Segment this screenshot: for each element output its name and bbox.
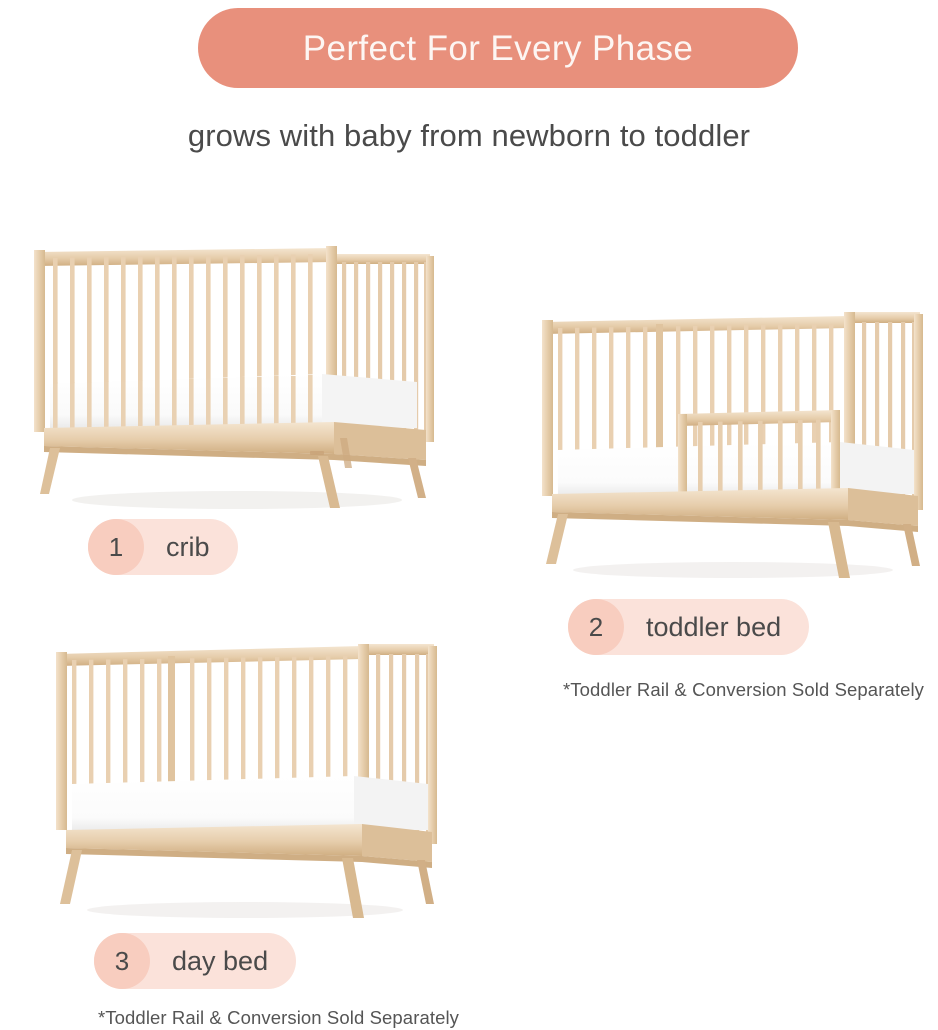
stage-badge-toddler-bed: 2 toddler bed bbox=[568, 599, 809, 655]
daybed-leg-front-left bbox=[60, 850, 82, 904]
stage-label-crib: crib bbox=[144, 534, 238, 561]
daybed-post-left bbox=[56, 652, 67, 830]
footnote-day-bed: *Toddler Rail & Conversion Sold Separate… bbox=[98, 1007, 459, 1029]
stage-number-toddler-bed: 2 bbox=[568, 599, 624, 655]
toddler-leg-front-left bbox=[546, 514, 568, 564]
crib-illustration bbox=[22, 232, 442, 522]
toddler-bed-illustration bbox=[528, 298, 932, 588]
crib-brand-plate bbox=[310, 451, 324, 455]
stage-badge-day-bed: 3 day bed bbox=[94, 933, 296, 989]
product-image-crib bbox=[22, 232, 442, 522]
product-image-day-bed bbox=[40, 628, 444, 928]
stage-number-day-bed: 3 bbox=[94, 933, 150, 989]
page-subtitle: grows with baby from newborn to toddler bbox=[0, 118, 938, 154]
stage-number-crib: 1 bbox=[88, 519, 144, 575]
title-banner: Perfect For Every Phase bbox=[198, 8, 798, 88]
crib-leg-front-left bbox=[40, 448, 60, 494]
product-infographic: Perfect For Every Phase grows with baby … bbox=[0, 0, 938, 1030]
crib-post-left bbox=[34, 250, 45, 432]
product-image-toddler-bed bbox=[528, 298, 932, 588]
day-bed-illustration bbox=[40, 628, 444, 928]
stage-badge-crib: 1 crib bbox=[88, 519, 238, 575]
footnote-toddler-bed: *Toddler Rail & Conversion Sold Separate… bbox=[563, 679, 924, 701]
stage-label-day-bed: day bed bbox=[150, 948, 296, 975]
page-title: Perfect For Every Phase bbox=[303, 31, 693, 66]
toddler-post-left bbox=[542, 320, 553, 496]
stage-label-toddler-bed: toddler bed bbox=[624, 614, 809, 641]
